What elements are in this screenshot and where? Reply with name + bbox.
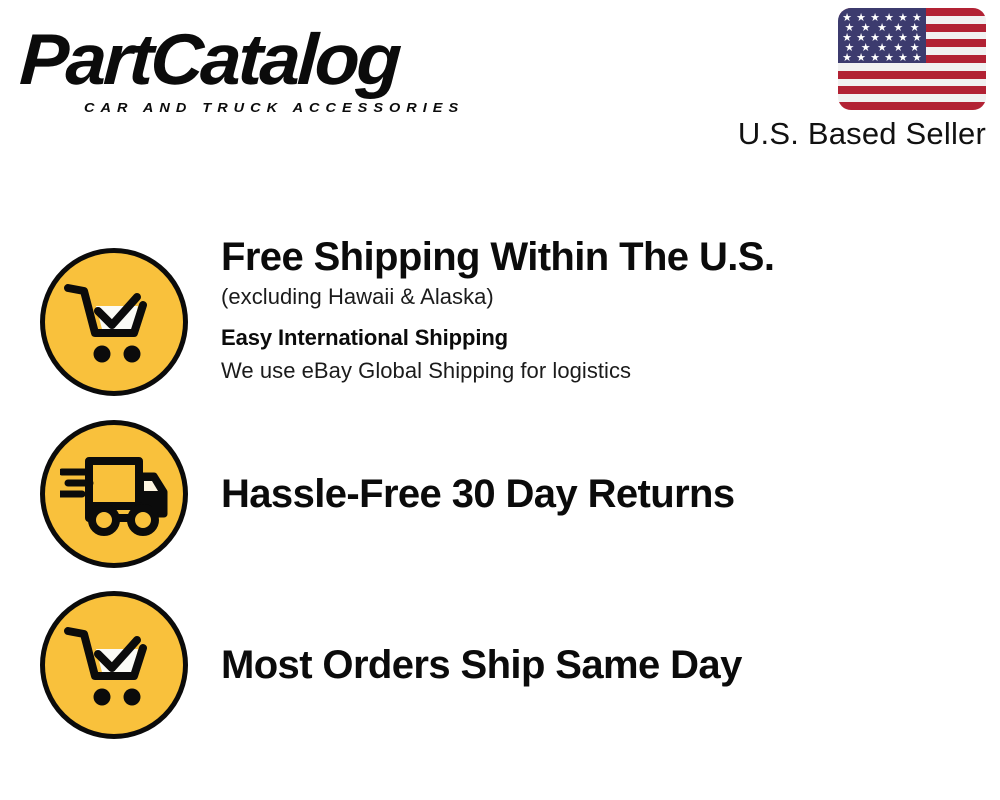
feature-row-returns: Hassle-Free 30 Day Returns (40, 420, 735, 568)
feature-2-title: Hassle-Free 30 Day Returns (221, 471, 735, 517)
feature-2-text: Hassle-Free 30 Day Returns (221, 471, 735, 517)
brand-logo: PartCatalog CAR AND TRUCK ACCESSORIES (22, 24, 492, 116)
us-based-seller-label: U.S. Based Seller (724, 116, 986, 152)
promo-banner: PartCatalog CAR AND TRUCK ACCESSORIES ★★… (0, 0, 1000, 800)
feature-row-same-day-ship: Most Orders Ship Same Day (40, 591, 742, 739)
feature-3-title: Most Orders Ship Same Day (221, 642, 742, 688)
feature-row-free-shipping: Free Shipping Within The U.S. (excluding… (40, 248, 774, 396)
feature-1-subtext: We use eBay Global Shipping for logistic… (221, 354, 774, 388)
brand-name: PartCatalog (18, 24, 501, 96)
feature-3-text: Most Orders Ship Same Day (221, 642, 742, 688)
shopping-cart-check-icon (40, 591, 188, 739)
feature-1-note: (excluding Hawaii & Alaska) (221, 280, 774, 314)
us-flag-icon: ★★★★★★ ★★★★★ ★★★★★★ ★★★★★ ★★★★★★ (838, 8, 986, 110)
brand-tagline: CAR AND TRUCK ACCESSORIES (84, 101, 464, 116)
feature-1-subtitle: Easy International Shipping (221, 322, 774, 354)
shopping-cart-check-icon (40, 248, 188, 396)
feature-1-text: Free Shipping Within The U.S. (excluding… (221, 234, 774, 388)
delivery-truck-icon (40, 420, 188, 568)
feature-1-title: Free Shipping Within The U.S. (221, 234, 774, 280)
us-based-seller-badge: ★★★★★★ ★★★★★ ★★★★★★ ★★★★★ ★★★★★★ U.S. Ba… (724, 8, 986, 152)
flag-canton: ★★★★★★ ★★★★★ ★★★★★★ ★★★★★ ★★★★★★ (838, 8, 926, 63)
